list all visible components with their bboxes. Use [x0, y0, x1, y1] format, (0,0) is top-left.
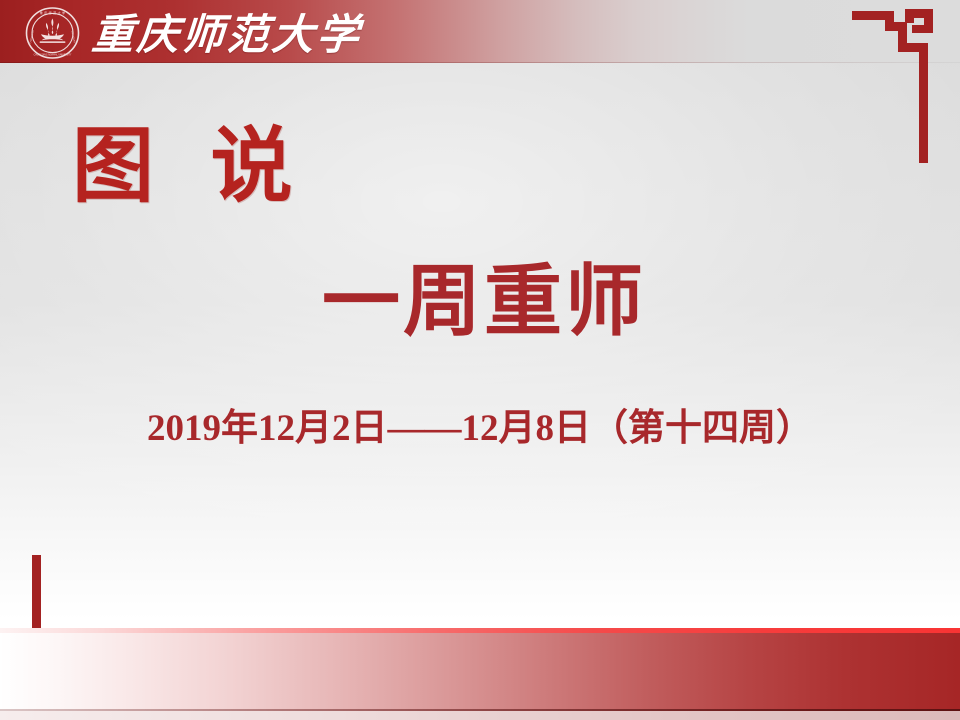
university-seal-icon: 重 庆 师 范 大 学 CHONGQING NORMAL UNIVERSITY …	[25, 7, 80, 59]
bottom-band	[0, 633, 960, 711]
title-line-2: 一周重师	[322, 263, 646, 341]
svg-text:CHONGQING NORMAL UNIVERSITY: CHONGQING NORMAL UNIVERSITY	[34, 53, 72, 56]
slide-canvas: 重 庆 师 范 大 学 CHONGQING NORMAL UNIVERSITY …	[0, 0, 960, 720]
bottom-footer-strip	[0, 711, 960, 720]
svg-text:重 庆 师 范 大 学: 重 庆 师 范 大 学	[40, 10, 66, 15]
corner-meander-icon-top-right	[852, 9, 948, 164]
title-line-1: 图 说	[72, 126, 311, 208]
date-range-text: 2019年12月2日——12月8日（第十四周）	[0, 409, 960, 450]
university-name: 重庆师范大学	[90, 2, 364, 60]
